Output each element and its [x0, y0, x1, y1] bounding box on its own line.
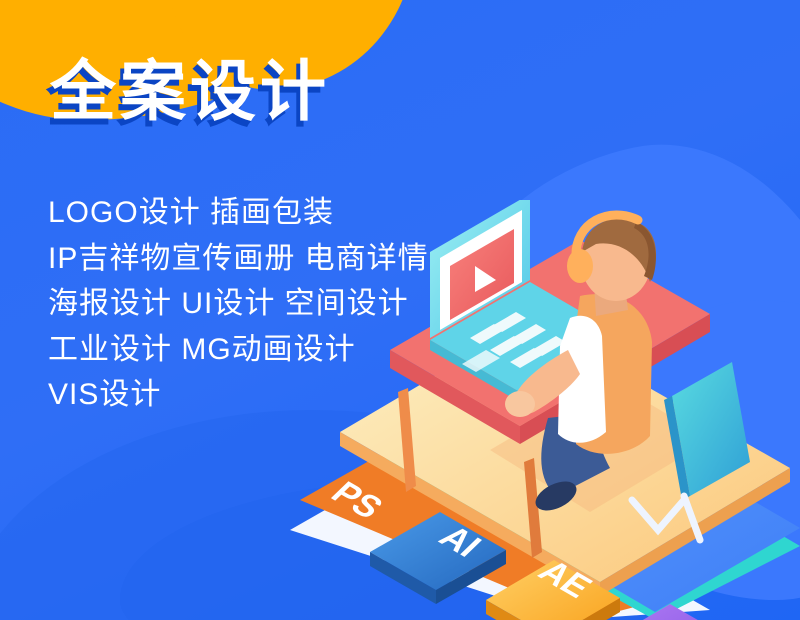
page-title: 全案设计 [50, 58, 330, 124]
designer-illustration: PS AI AE [280, 200, 800, 620]
promo-banner: 全案设计 LOGO设计 插画包装 IP吉祥物宣传画册 电商详情 海报设计 UI设… [0, 0, 800, 620]
